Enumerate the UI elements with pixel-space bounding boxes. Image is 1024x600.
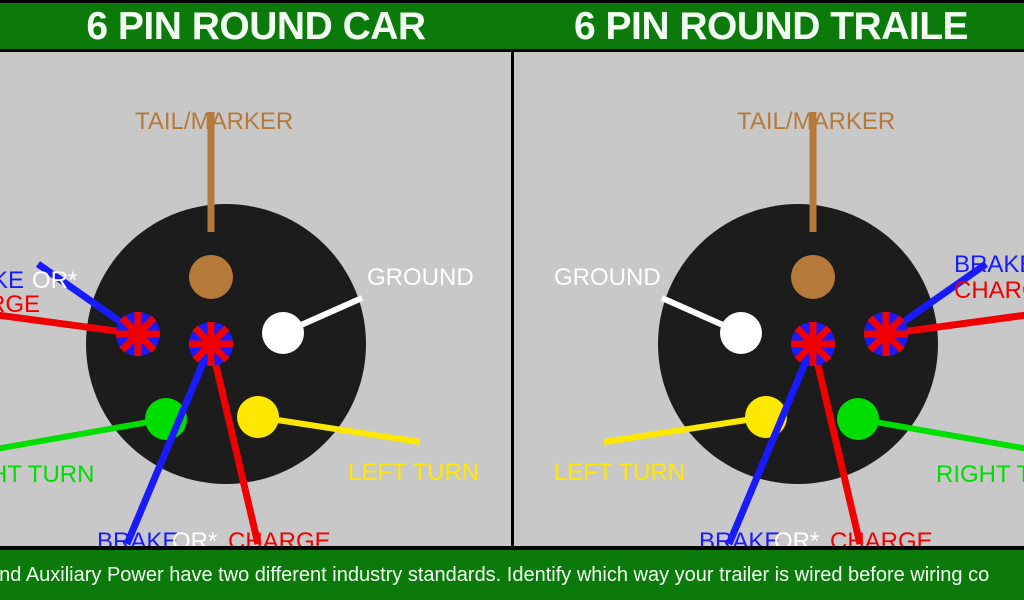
label-charge-bottom: CHARGE xyxy=(830,528,933,546)
brake-charge-pin-center[interactable] xyxy=(791,322,835,366)
tail-marker-pin[interactable] xyxy=(791,255,835,299)
label-tail-marker: TAIL/MARKER xyxy=(135,108,293,135)
label-brake-bottom: BRAKE xyxy=(699,528,780,546)
label-left-turn: LEFT TURN xyxy=(554,459,685,486)
ground-pin[interactable] xyxy=(720,312,762,354)
header-cell-car: 6 PIN ROUND CAR xyxy=(0,0,512,52)
label-or-bottom: OR* xyxy=(774,528,819,546)
brake-charge-pin-upper[interactable] xyxy=(864,312,908,356)
diagram-panels: TAIL/MARKER GROUND HT TURN LEFT TURN KE … xyxy=(0,52,1024,546)
brake-charge-pin-upper[interactable] xyxy=(116,312,160,356)
label-charge-upper: CHARGE xyxy=(954,277,1024,304)
label-tail-marker: TAIL/MARKER xyxy=(737,108,895,135)
left-turn-pin[interactable] xyxy=(237,396,279,438)
car-connector-diagram: TAIL/MARKER GROUND HT TURN LEFT TURN KE … xyxy=(0,52,508,546)
label-brake-bottom: BRAKE xyxy=(97,528,178,546)
header-cell-trailer: 6 PIN ROUND TRAILE xyxy=(512,0,1024,52)
label-or-upper: OR* xyxy=(32,267,77,294)
label-right-turn: HT TURN xyxy=(0,461,94,488)
footer-note-band: and Auxiliary Power have two different i… xyxy=(0,546,1024,600)
label-right-turn: RIGHT T xyxy=(936,461,1024,488)
wiring-diagram-page: 6 PIN ROUND CAR 6 PIN ROUND TRAILE xyxy=(0,0,1024,600)
page-title-car: 6 PIN ROUND CAR xyxy=(86,7,425,46)
ground-pin[interactable] xyxy=(262,312,304,354)
panel-trailer: TAIL/MARKER GROUND LEFT TURN RIGHT T BRA… xyxy=(516,52,1024,546)
header-band: 6 PIN ROUND CAR 6 PIN ROUND TRAILE xyxy=(0,0,1024,52)
label-brake-upper: KE xyxy=(0,267,24,294)
right-turn-pin[interactable] xyxy=(837,398,879,440)
label-ground: GROUND xyxy=(367,264,474,291)
panel-divider xyxy=(508,52,516,546)
tail-marker-pin[interactable] xyxy=(189,255,233,299)
label-charge-bottom: CHARGE xyxy=(228,528,331,546)
footer-note-text: and Auxiliary Power have two different i… xyxy=(0,565,989,585)
label-ground: GROUND xyxy=(554,264,661,291)
trailer-connector-diagram: TAIL/MARKER GROUND LEFT TURN RIGHT T BRA… xyxy=(516,52,1024,546)
label-charge-upper: RGE xyxy=(0,291,40,318)
panel-car: TAIL/MARKER GROUND HT TURN LEFT TURN KE … xyxy=(0,52,508,546)
label-brake-upper: BRAKE xyxy=(954,251,1024,278)
label-left-turn: LEFT TURN xyxy=(348,459,479,486)
label-or-bottom: OR* xyxy=(172,528,217,546)
page-title-trailer: 6 PIN ROUND TRAILE xyxy=(574,7,968,46)
brake-charge-pin-center[interactable] xyxy=(189,322,233,366)
